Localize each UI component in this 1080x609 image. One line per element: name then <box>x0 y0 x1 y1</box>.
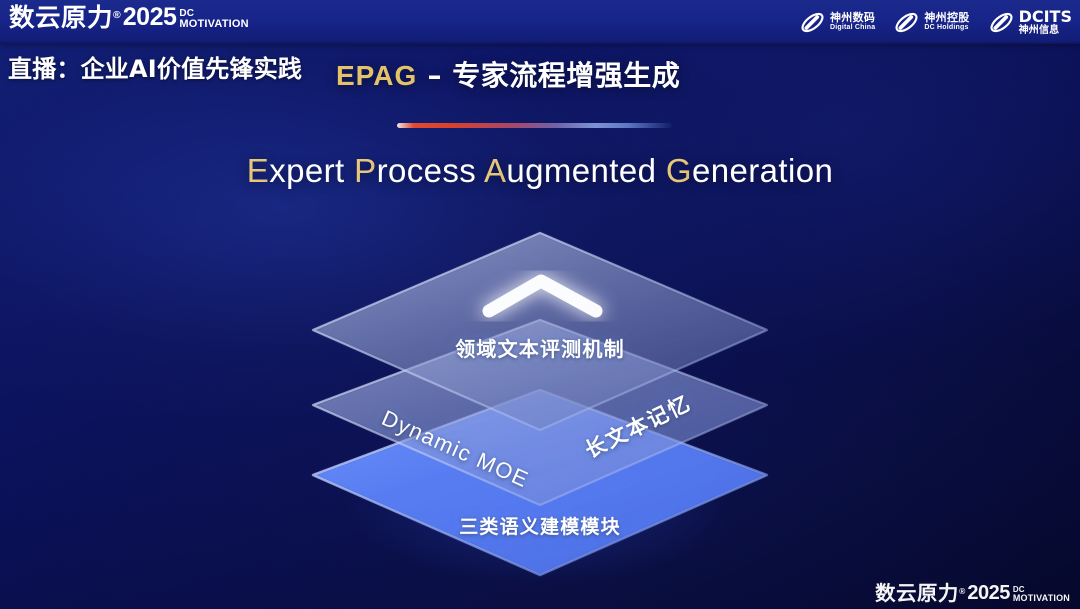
brand-logo-top: 数云原力®2025 DC MOTIVATION <box>10 5 249 30</box>
subtitle-rest-augmented: ugmented <box>506 152 656 189</box>
layer-glow <box>285 400 795 609</box>
swirl-logo-icon <box>799 9 826 36</box>
layer-label-bottom: 三类语义建模模块 <box>0 512 1080 539</box>
layer-label-long-text-memory: 长文本记忆 <box>579 387 696 464</box>
brand-name-cn: 数云原力 <box>9 5 113 30</box>
slide-canvas: 领域文本评测机制 Dynamic MOE 长文本记忆 三类语义建模模块 数云原力… <box>0 0 1080 609</box>
partner-text: 神州数码 Digital China <box>830 12 875 32</box>
diagram-layer-bottom <box>313 390 767 575</box>
live-stream-title: 直播：企业AI价值先锋实践 <box>8 49 302 84</box>
subtitle-cap-e: E <box>247 152 269 189</box>
partner-name-cn: 神州数码 <box>830 12 875 24</box>
chevron-up-icon <box>489 281 596 311</box>
partner-logo-dc-holdings: 神州控股 DC Holdings <box>893 9 969 36</box>
partner-logo-dcits: DCITS 神州信息 <box>988 8 1072 37</box>
brand-dc-motivation: DC MOTIVATION <box>179 9 248 30</box>
partner-name-en: DC Holdings <box>924 24 969 32</box>
brand-logo-watermark: 数云原力®2025 DC MOTIVATION <box>876 583 1070 603</box>
diagram-layer-top <box>313 233 767 430</box>
layer-label-top: 领域文本评测机制 <box>0 333 1080 362</box>
title-chinese: 专家流程增强生成 <box>452 59 680 92</box>
registered-mark-icon: ® <box>959 587 965 595</box>
brand-year: 2025 <box>123 5 177 30</box>
registered-mark-icon: ® <box>113 10 121 21</box>
brand-motivation: MOTIVATION <box>1013 594 1070 603</box>
subtitle-rest-process: rocess <box>377 152 477 189</box>
subtitle: Expert Process Augmented Generation <box>0 152 1080 190</box>
title-separator: – <box>417 59 452 92</box>
brand-motivation: MOTIVATION <box>179 19 248 30</box>
subtitle-rest-generation: eneration <box>692 152 833 189</box>
page-title: EPAG – 专家流程增强生成 <box>336 54 680 94</box>
subtitle-rest-expert: xpert <box>269 152 344 189</box>
partner-text: DCITS 神州信息 <box>1019 8 1072 37</box>
brand-dc-motivation: DC MOTIVATION <box>1013 586 1070 603</box>
swirl-logo-icon <box>988 9 1015 36</box>
subtitle-cap-p: P <box>354 152 376 189</box>
partner-name-en: 神州信息 <box>1019 25 1072 36</box>
layer-label-dynamic-moe: Dynamic MOE <box>378 405 533 493</box>
brand-year: 2025 <box>967 583 1010 603</box>
partner-text: 神州控股 DC Holdings <box>924 12 969 32</box>
swirl-logo-icon <box>893 9 920 36</box>
title-acronym: EPAG <box>336 60 417 91</box>
partner-name-cn: 神州控股 <box>924 12 969 24</box>
partner-logo-group: 神州数码 Digital China 神州控股 DC Holdings DCIT… <box>799 6 1072 38</box>
subtitle-cap-g: G <box>666 152 692 189</box>
partner-name-en: Digital China <box>830 24 875 32</box>
brand-name-cn: 数云原力 <box>875 583 959 603</box>
title-divider <box>397 123 672 128</box>
partner-name-cn: DCITS <box>1019 8 1072 26</box>
subtitle-cap-a: A <box>484 152 506 189</box>
partner-logo-digital-china: 神州数码 Digital China <box>799 9 875 36</box>
